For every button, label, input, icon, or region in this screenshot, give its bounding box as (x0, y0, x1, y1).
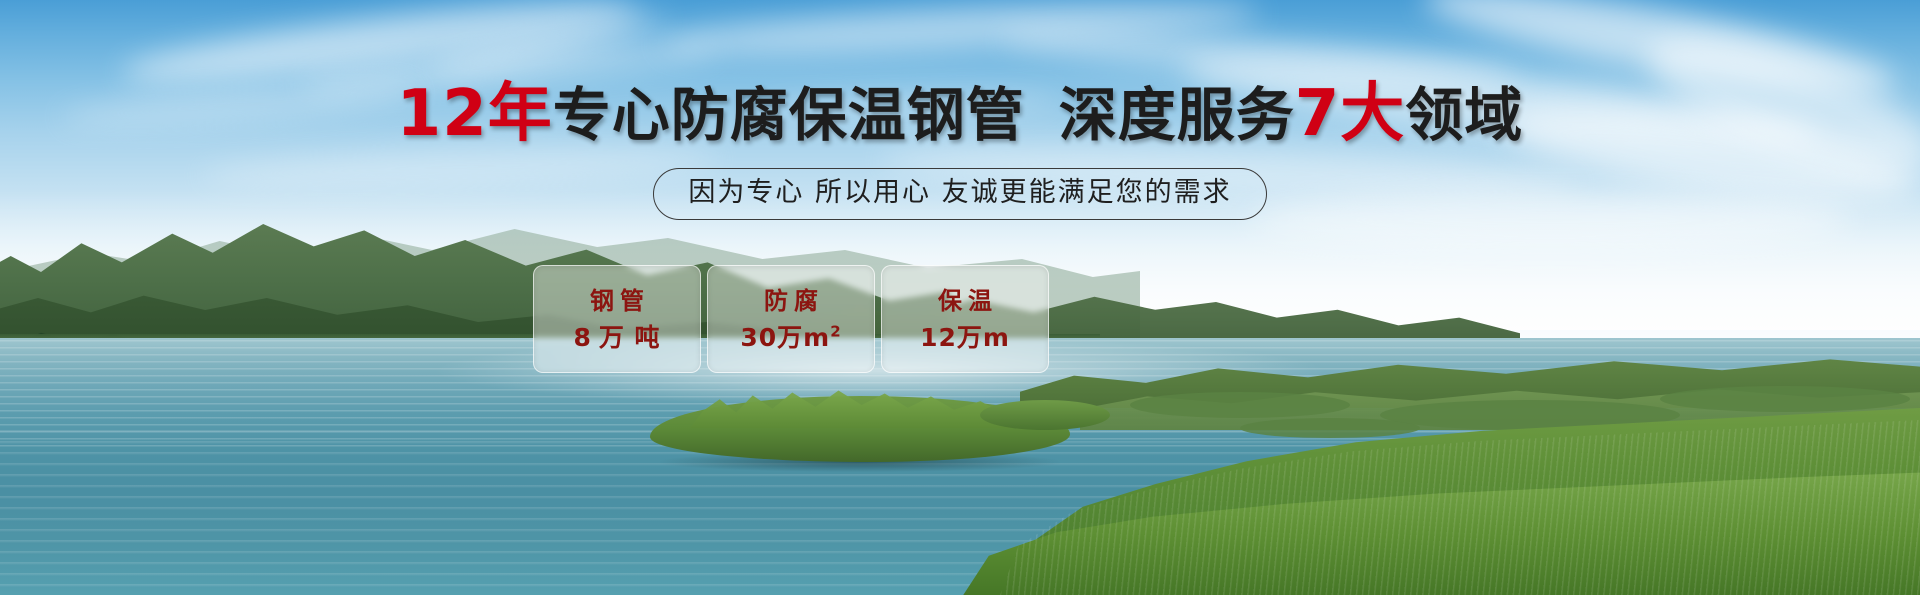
stat-value-superscript: 2 (830, 322, 841, 340)
grass-patch (1130, 392, 1350, 418)
stat-card-anticorrosion[interactable]: 防腐 30万m2 (707, 265, 875, 373)
banner-subtitle: 因为专心 所以用心 友诚更能满足您的需求 (653, 168, 1266, 220)
headline-years: 12年 (397, 77, 553, 151)
stat-value-unit: 万m (957, 323, 1010, 352)
banner-headline: 12年专心防腐保温钢管深度服务7大领域 (0, 82, 1920, 146)
headline-fields-text: 领域 (1405, 81, 1523, 149)
stat-card-insulation[interactable]: 保温 12万m (881, 265, 1049, 373)
stat-card-value: 30万m2 (740, 325, 841, 350)
small-island (980, 400, 1110, 430)
grass-patch (1660, 386, 1910, 412)
headline-fields-count: 7大 (1295, 77, 1406, 151)
headline-main-text: 专心防腐保温钢管 (553, 81, 1025, 149)
stat-value-unit: 万m (777, 323, 830, 352)
banner-subtitle-container: 因为专心 所以用心 友诚更能满足您的需求 (0, 168, 1920, 220)
grass-patch (1240, 418, 1420, 438)
stat-card-label: 钢管 (584, 289, 650, 313)
stat-value-number: 8 (573, 323, 591, 352)
stat-card-steel-pipe[interactable]: 钢管 8万 吨 (533, 265, 701, 373)
stat-card-label: 保温 (932, 289, 998, 313)
stat-card-label: 防腐 (758, 289, 824, 313)
stat-cards-group: 钢管 8万 吨 防腐 30万m2 保温 12万m (533, 265, 1049, 373)
stat-value-number: 30 (740, 323, 777, 352)
promo-banner: 12年专心防腐保温钢管深度服务7大领域 因为专心 所以用心 友诚更能满足您的需求… (0, 0, 1920, 595)
stat-card-value: 8万 吨 (573, 325, 660, 350)
stat-value-unit: 万 吨 (599, 323, 661, 352)
stat-card-value: 12万m (920, 325, 1010, 350)
stat-value-number: 12 (920, 323, 957, 352)
headline-service-text: 深度服务 (1059, 81, 1295, 149)
